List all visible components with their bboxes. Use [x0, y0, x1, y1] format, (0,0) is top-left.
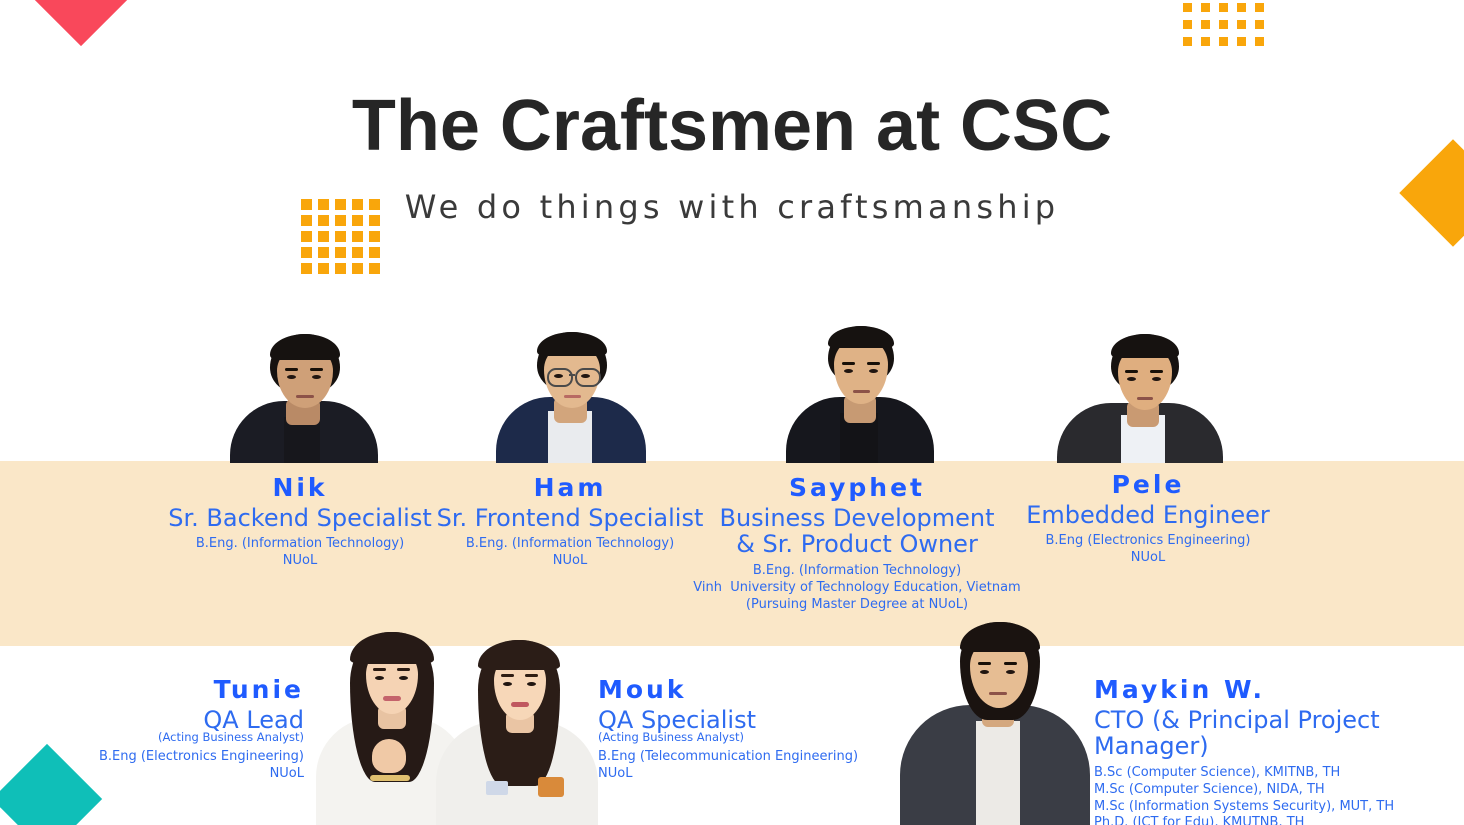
- member-education-line: NUoL: [1000, 550, 1296, 567]
- member-education-line: B.Eng. (Information Technology): [420, 536, 720, 553]
- member-card-nik: Nik Sr. Backend Specialist B.Eng. (Infor…: [150, 474, 450, 570]
- member-education-line: (Pursuing Master Degree at NUoL): [690, 597, 1024, 614]
- member-note: (Acting Business Analyst): [20, 731, 304, 744]
- member-education-line: NUoL: [420, 553, 720, 570]
- member-education-line: Vinh University of Technology Education,…: [690, 580, 1024, 597]
- member-card-tunie: Tunie QA Lead (Acting Business Analyst) …: [20, 676, 304, 783]
- portrait-maykin: [900, 618, 1090, 825]
- portrait-ham: [490, 330, 650, 463]
- member-role: CTO (& Principal Project Manager): [1094, 707, 1454, 760]
- member-education-line: M.Sc (Information Systems Security), MUT…: [1094, 799, 1454, 816]
- portrait-mouk: [434, 640, 600, 825]
- page-title: The Craftsmen at CSC: [0, 88, 1464, 166]
- member-card-ham: Ham Sr. Frontend Specialist B.Eng. (Info…: [420, 474, 720, 570]
- member-name: Mouk: [598, 676, 898, 704]
- member-card-sayphet: Sayphet Business Development & Sr. Produ…: [690, 474, 1024, 613]
- member-name: Pele: [1000, 471, 1296, 499]
- portrait-nik: [222, 330, 382, 463]
- slide-canvas: The Craftsmen at CSC We do things with c…: [0, 0, 1464, 825]
- member-name: Nik: [150, 474, 450, 502]
- member-card-mouk: Mouk QA Specialist (Acting Business Anal…: [598, 676, 898, 783]
- member-education-line: M.Sc (Computer Science), NIDA, TH: [1094, 782, 1454, 799]
- portrait-sayphet: [782, 322, 937, 463]
- member-role: Sr. Frontend Specialist: [420, 505, 720, 531]
- member-role: Business Development & Sr. Product Owner: [690, 505, 1024, 558]
- member-education-line: NUoL: [20, 766, 304, 783]
- page-subtitle: We do things with craftsmanship: [0, 188, 1464, 226]
- member-card-maykin: Maykin W. CTO (& Principal Project Manag…: [1094, 676, 1454, 825]
- member-education-line: NUoL: [598, 766, 898, 783]
- dot-grid-top-right-icon: [1183, 3, 1264, 46]
- member-education-line: Ph.D. (ICT for Edu), KMUTNB, TH: [1094, 815, 1454, 825]
- member-education-line: NUoL: [150, 553, 450, 570]
- member-education-line: B.Sc (Computer Science), KMITNB, TH: [1094, 765, 1454, 782]
- member-education-line: B.Eng (Electronics Engineering): [1000, 533, 1296, 550]
- member-education-line: B.Eng. (Information Technology): [150, 536, 450, 553]
- member-name: Ham: [420, 474, 720, 502]
- red-diamond-icon: [26, 0, 136, 46]
- member-name: Maykin W.: [1094, 676, 1454, 704]
- member-education-line: B.Eng (Electronics Engineering): [20, 749, 304, 766]
- member-role: Sr. Backend Specialist: [150, 505, 450, 531]
- member-education-line: B.Eng (Telecommunication Engineering): [598, 749, 898, 766]
- member-education-line: B.Eng. (Information Technology): [690, 563, 1024, 580]
- member-role: Embedded Engineer: [1000, 502, 1296, 528]
- member-name: Tunie: [20, 676, 304, 704]
- header: The Craftsmen at CSC We do things with c…: [0, 88, 1464, 226]
- portrait-pele: [1055, 330, 1225, 463]
- member-card-pele: Pele Embedded Engineer B.Eng (Electronic…: [1000, 471, 1296, 567]
- member-name: Sayphet: [690, 474, 1024, 502]
